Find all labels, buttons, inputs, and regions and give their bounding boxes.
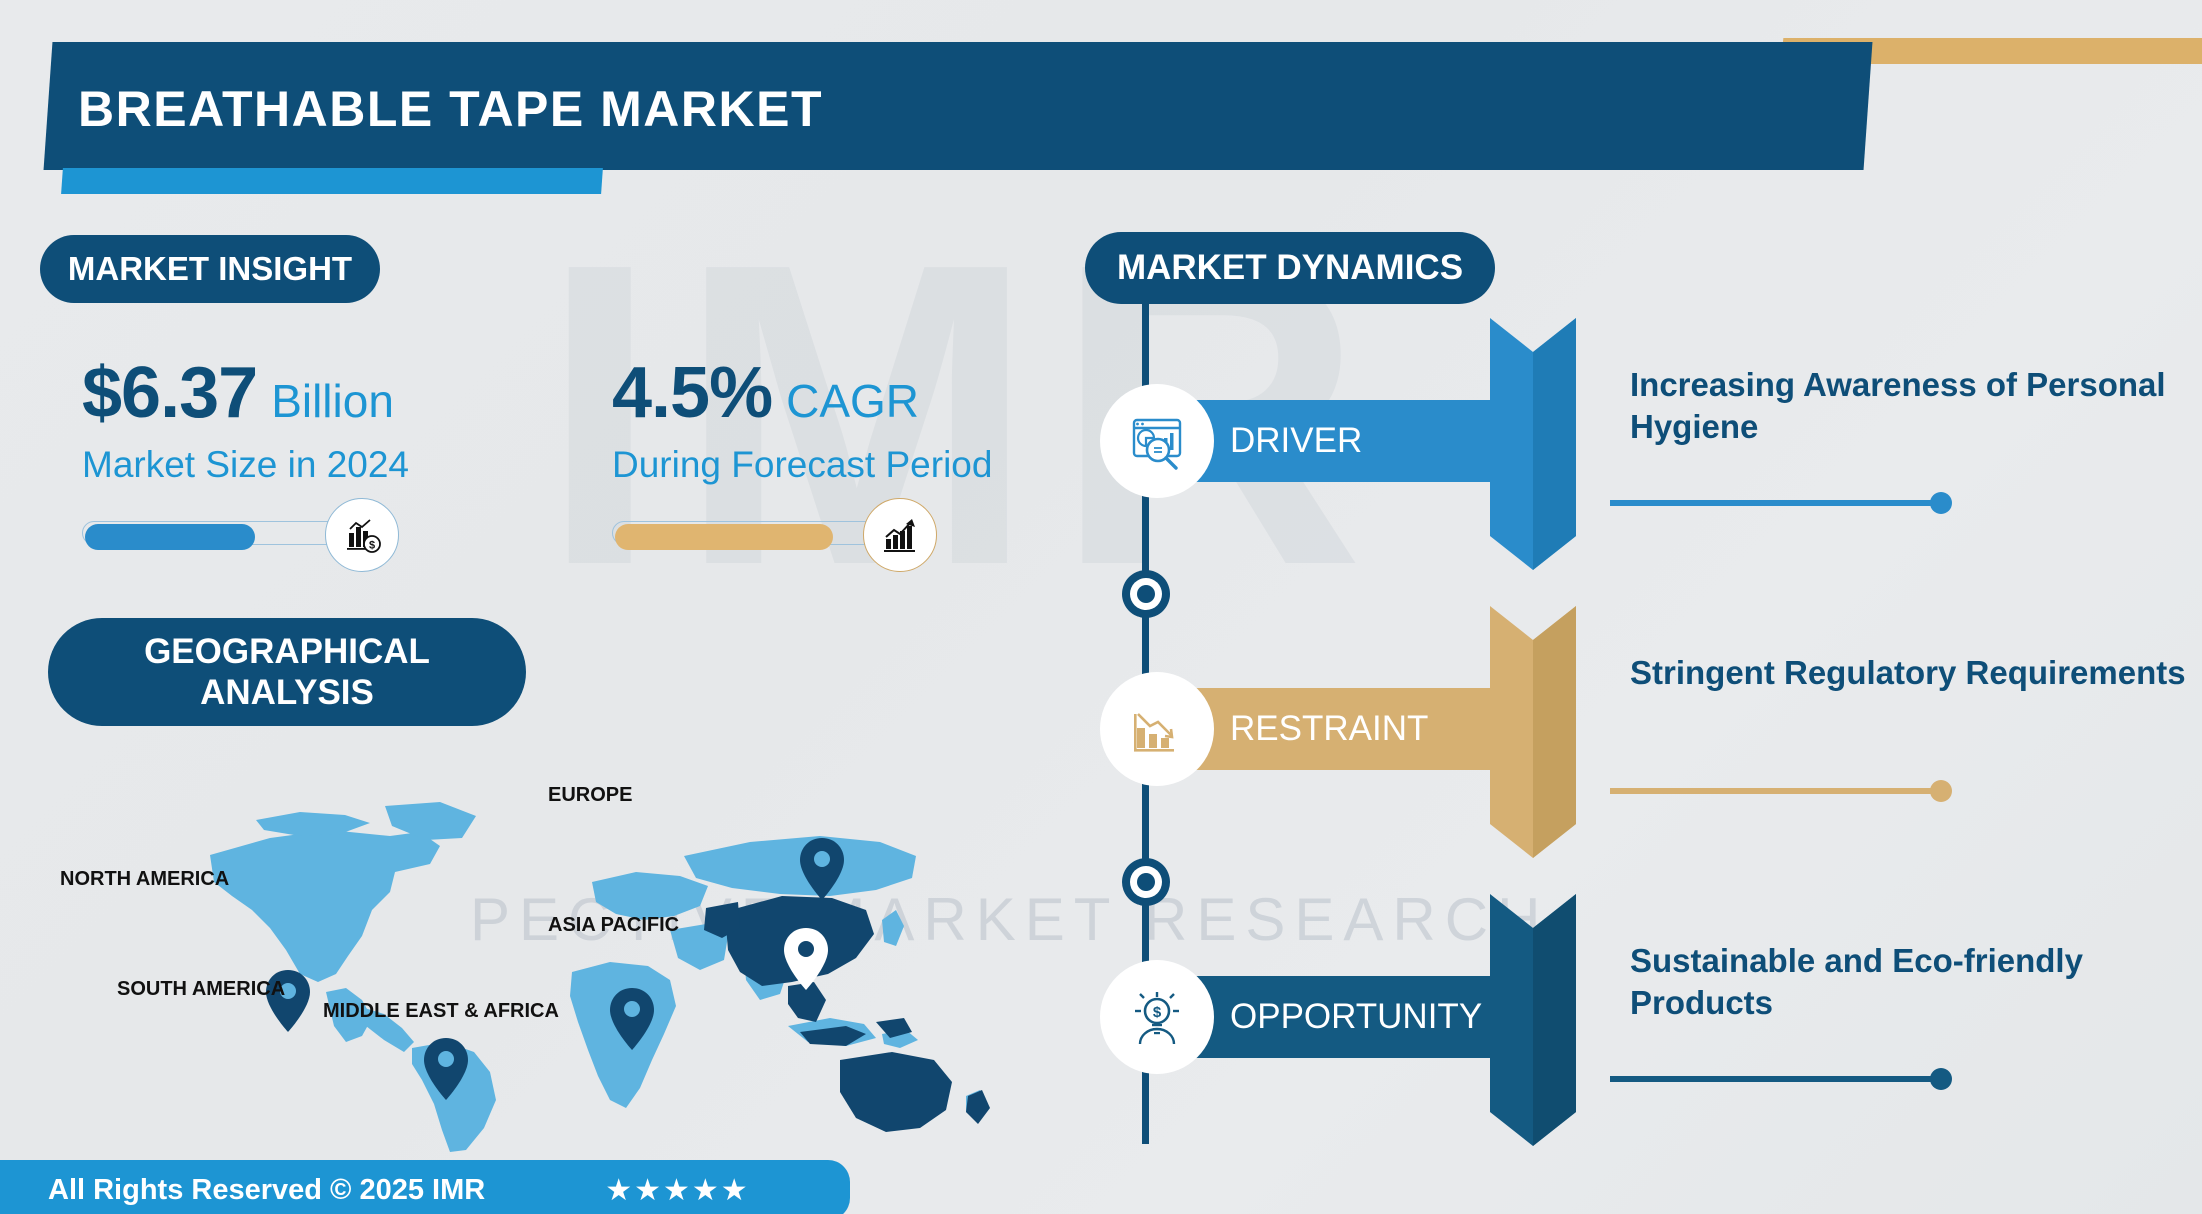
- restraint-text: Stringent Regulatory Requirements: [1630, 652, 2202, 694]
- map-label-north-america: NORTH AMERICA: [60, 868, 229, 891]
- progress-fill: [85, 524, 255, 550]
- stat-market-size-unit: Billion: [271, 374, 394, 428]
- opportunity-text: Sustainable and Eco-friendly Products: [1630, 940, 2202, 1024]
- infographic-canvas: IMR PECTIVE MARKET RESEARCH BREATHABLE T…: [0, 0, 2202, 1214]
- stat-cagr-unit: CAGR: [786, 374, 919, 428]
- growth-chart-arrow-icon: [863, 498, 937, 572]
- market-insight-badge: MARKET INSIGHT: [40, 235, 380, 303]
- restraint-end-dot: [1930, 780, 1952, 802]
- world-map: NORTH AMERICA EUROPE ASIA PACIFIC SOUTH …: [140, 760, 1040, 1160]
- stat-cagr-label: During Forecast Period: [612, 444, 992, 486]
- restraint-ribbon: [1490, 606, 1576, 858]
- stat-cagr: 4.5% CAGR During Forecast Period: [612, 352, 992, 554]
- page-title: BREATHABLE TAPE MARKET: [78, 80, 823, 138]
- opportunity-end-dot: [1930, 1068, 1952, 1090]
- driver-end-dot: [1930, 492, 1952, 514]
- footer-bar: All Rights Reserved © 2025 IMR ★★★★★: [0, 1160, 850, 1214]
- chart-magnifier-icon: [1100, 384, 1214, 498]
- footer-copyright: All Rights Reserved © 2025 IMR: [48, 1174, 485, 1207]
- geo-badge-line-1: GEOGRAPHICAL: [144, 631, 430, 672]
- stat-market-size-progress: $: [82, 512, 372, 554]
- stat-cagr-value: 4.5%: [612, 352, 772, 434]
- map-label-south-america: SOUTH AMERICA: [117, 978, 285, 1001]
- market-dynamics-badge-label: MARKET DYNAMICS: [1117, 248, 1463, 288]
- declining-bar-chart-icon: [1100, 672, 1214, 786]
- driver-text: Increasing Awareness of Personal Hygiene: [1630, 364, 2202, 448]
- dynamics-node-connector: [1122, 858, 1170, 906]
- stat-cagr-row: 4.5% CAGR: [612, 352, 992, 434]
- opportunity-label: OPPORTUNITY: [1230, 976, 1482, 1058]
- market-dynamics-badge: MARKET DYNAMICS: [1085, 232, 1495, 304]
- footer-rating-stars: ★★★★★: [605, 1173, 749, 1208]
- stat-cagr-progress: [612, 512, 902, 554]
- header-blue-accent: [61, 168, 603, 194]
- stat-market-size-row: $6.37 Billion: [82, 352, 409, 434]
- stat-market-size-value: $6.37: [82, 352, 257, 434]
- geographical-analysis-badge: GEOGRAPHICAL ANALYSIS: [48, 618, 526, 726]
- driver-ribbon: [1490, 318, 1576, 570]
- dynamics-node-connector: [1122, 570, 1170, 618]
- geo-badge-line-2: ANALYSIS: [200, 672, 374, 713]
- restraint-label: RESTRAINT: [1230, 688, 1428, 770]
- stat-market-size-label: Market Size in 2024: [82, 444, 409, 486]
- map-label-middle-east-africa: MIDDLE EAST & AFRICA: [323, 1000, 559, 1023]
- restraint-underline: [1610, 788, 1940, 794]
- map-highlight-asia-pacific: [704, 896, 990, 1132]
- stat-market-size: $6.37 Billion Market Size in 2024 $: [82, 352, 409, 554]
- market-insight-badge-label: MARKET INSIGHT: [68, 250, 352, 288]
- driver-label: DRIVER: [1230, 400, 1362, 482]
- lightbulb-dollar-icon: $: [1100, 960, 1214, 1074]
- map-label-asia-pacific: ASIA PACIFIC: [548, 914, 679, 937]
- svg-text:$: $: [1153, 1004, 1162, 1021]
- svg-text:$: $: [369, 540, 375, 552]
- map-label-europe: EUROPE: [548, 784, 632, 807]
- driver-underline: [1610, 500, 1940, 506]
- opportunity-underline: [1610, 1076, 1940, 1082]
- progress-fill: [615, 524, 833, 550]
- bar-chart-dollar-icon: $: [325, 498, 399, 572]
- opportunity-ribbon: [1490, 894, 1576, 1146]
